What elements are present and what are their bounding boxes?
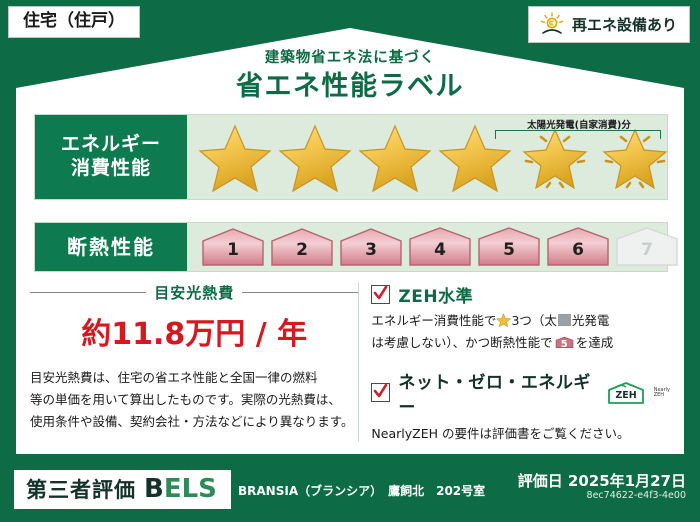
insulation-grade-2-value: 2: [268, 240, 336, 260]
nearly-zeh-mark: NearlyZEH: [654, 388, 670, 398]
energy-performance-label: エネルギー 消費性能: [35, 115, 187, 199]
zeh-standard-check-row: ZEH水準: [371, 282, 670, 307]
bels-letters-els: ELS: [164, 474, 217, 504]
inline-star-icon: [496, 315, 511, 330]
insulation-grade-3: 3: [337, 227, 405, 267]
insulation-grade-5: 5: [475, 227, 543, 267]
insulation-grade-6-value: 6: [544, 240, 612, 260]
utility-cost-value: 約11.8万円 / 年: [30, 309, 358, 353]
renewable-equipment-badge: 再エネ設備あり: [528, 6, 690, 43]
utility-cost-note: 目安光熱費は、住宅の省エネ性能と全国一律の燃料 等の単価を用いて算出したものです…: [30, 367, 358, 433]
sun-icon: [539, 12, 565, 36]
rule-right: [242, 292, 358, 293]
insulation-grade-3-value: 3: [337, 240, 405, 260]
bels-logo: 第三者評価 BELS: [14, 470, 231, 509]
inline-insulation-badge-icon: 5: [555, 335, 574, 350]
insulation-grade-4-value: 4: [406, 240, 474, 260]
zeh-desc-b: 3つ（太: [511, 313, 556, 328]
net-zero-check-row: ネット・ゼロ・エネルギー ZEH NearlyZEH: [371, 368, 670, 418]
zeh-house-logo-icon: ZEH: [606, 381, 646, 405]
utility-cost-note-line3: 使用条件や設備、契約会社・方法などにより異なります。: [30, 411, 358, 433]
zeh-desc-c: 光発電: [572, 313, 610, 328]
star-filled-3: [357, 121, 433, 193]
insulation-badges-area: 1 2 3 4: [187, 223, 681, 271]
bels-letter-b: B: [144, 474, 164, 504]
utility-cost-note-line2: 等の単価を用いて算出したものです。実際の光熱費は、: [30, 389, 358, 411]
insulation-grade-6: 6: [544, 227, 612, 267]
energy-label-line2: 消費性能: [61, 157, 161, 181]
star-filled-1: [197, 121, 273, 193]
net-zero-subtext: NearlyZEH の要件は評価書をご覧ください。: [371, 423, 670, 442]
zeh-desc-e: を達成: [576, 335, 614, 350]
energy-stars-area: 太陽光発電(自家消費)分: [187, 115, 673, 199]
evaluation-date: 評価日 2025年1月27日: [518, 470, 686, 491]
evaluation-uid: 8ec74622-e4f3-4e00: [587, 490, 686, 501]
utility-cost-heading: 目安光熱費: [30, 282, 358, 303]
rule-left: [30, 292, 146, 293]
zeh-standard-description: エネルギー消費性能で3つ（太光発電は考慮しない）、かつ断熱性能で5を達成: [371, 311, 670, 354]
zeh-column: ZEH水準 エネルギー消費性能で3つ（太光発電は考慮しない）、かつ断熱性能で5を…: [358, 282, 670, 442]
insulation-grade-7: 7: [613, 227, 681, 267]
inline-badge-value: 5: [555, 337, 574, 353]
property-name: BRANSIA（ブランシア） 鷹飼北 202号室: [238, 482, 485, 499]
label-title: 省エネ性能ラベル: [0, 64, 700, 103]
utility-cost-column: 目安光熱費 約11.8万円 / 年 目安光熱費は、住宅の省エネ性能と全国一律の燃…: [30, 282, 358, 442]
star-filled-2: [277, 121, 353, 193]
bels-jp-label: 第三者評価: [26, 474, 136, 504]
bels-energy-label: 住宅（住戸） 再エネ設備あり 建築物省エネ法に基づく 省エネ性能ラベル: [0, 0, 700, 522]
utility-cost-heading-text: 目安光熱費: [154, 282, 234, 303]
insulation-grade-4: 4: [406, 227, 474, 267]
zeh-standard-title: ZEH水準: [398, 282, 473, 307]
insulation-grade-5-value: 5: [475, 240, 543, 260]
energy-label-line1: エネルギー: [61, 133, 161, 157]
insulation-grade-scale: 1 2 3 4: [187, 227, 681, 267]
energy-performance-row: エネルギー 消費性能: [34, 114, 668, 200]
checkbox-checked-icon[interactable]: [371, 285, 390, 304]
net-zero-title: ネット・ゼロ・エネルギー: [398, 368, 593, 418]
zeh-desc-a: エネルギー消費性能で: [371, 313, 496, 328]
details-area: 目安光熱費 約11.8万円 / 年 目安光熱費は、住宅の省エネ性能と全国一律の燃…: [30, 282, 670, 442]
insulation-grade-1: 1: [199, 227, 267, 267]
house-type-tag: 住宅（住戸）: [8, 6, 140, 38]
bels-en-label: BELS: [144, 474, 217, 504]
utility-cost-note-line1: 目安光熱費は、住宅の省エネ性能と全国一律の燃料: [30, 367, 358, 389]
footer-bar: 第三者評価 BELS BRANSIA（ブランシア） 鷹飼北 202号室 評価日 …: [0, 460, 700, 522]
insulation-performance-row: 断熱性能 1 2: [34, 222, 668, 272]
zeh-desc-d: は考慮しない）、かつ断熱性能で: [371, 335, 552, 350]
renewable-badge-label: 再エネ設備あり: [572, 14, 677, 35]
redacted-character: [558, 314, 571, 326]
checkbox-checked-icon-2[interactable]: [371, 383, 390, 402]
insulation-grade-2: 2: [268, 227, 336, 267]
insulation-grade-1-value: 1: [199, 240, 267, 260]
svg-text:ZEH: ZEH: [615, 390, 636, 401]
solar-generation-note: 太陽光発電(自家消費)分: [491, 117, 667, 131]
insulation-grade-7-value: 7: [613, 240, 681, 260]
solar-bracket-decoration: [495, 130, 661, 139]
insulation-performance-label: 断熱性能: [35, 223, 187, 271]
